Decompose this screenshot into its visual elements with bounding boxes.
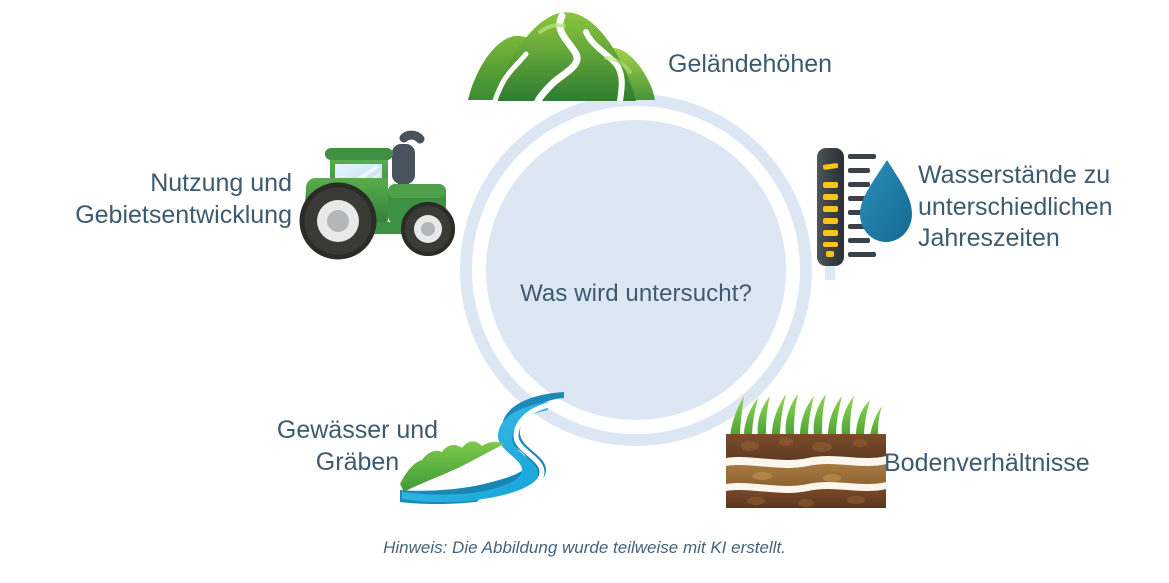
label-gelaendehoehen: Geländehöhen: [668, 49, 832, 81]
footnote-ai-notice: Hinweis: Die Abbildung wurde teilweise m…: [0, 538, 1169, 558]
soil-layers-icon: [722, 392, 890, 510]
label-wasserstaende-line2: unterschiedlichen: [918, 192, 1168, 224]
label-nutzung-line2: Gebietsentwicklung: [0, 200, 292, 232]
center-circle-core: Was wird untersucht?: [486, 120, 786, 420]
infographic-canvas: Was wird untersucht?: [0, 0, 1169, 583]
label-bodenverhaeltnisse-line1: Bodenverhältnisse: [884, 448, 1090, 480]
label-gelaendehoehen-line1: Geländehöhen: [668, 49, 832, 81]
label-nutzung-line1: Nutzung und: [0, 168, 292, 200]
tractor-icon: [292, 126, 468, 261]
label-wasserstaende-line3: Jahreszeiten: [918, 223, 1168, 255]
water-gauge-icon: [812, 142, 912, 282]
label-nutzung: Nutzung und Gebietsentwicklung: [0, 168, 292, 231]
label-gewaesser-line1: Gewässer und: [250, 415, 465, 447]
label-bodenverhaeltnisse: Bodenverhältnisse: [884, 448, 1090, 480]
hills-icon: [466, 2, 656, 108]
label-gewaesser: Gewässer und Gräben: [250, 415, 465, 478]
center-question-label: Was wird untersucht?: [520, 280, 752, 308]
label-wasserstaende: Wasserstände zu unterschiedlichen Jahres…: [918, 160, 1168, 255]
label-gewaesser-line2: Gräben: [250, 447, 465, 479]
label-wasserstaende-line1: Wasserstände zu: [918, 160, 1168, 192]
